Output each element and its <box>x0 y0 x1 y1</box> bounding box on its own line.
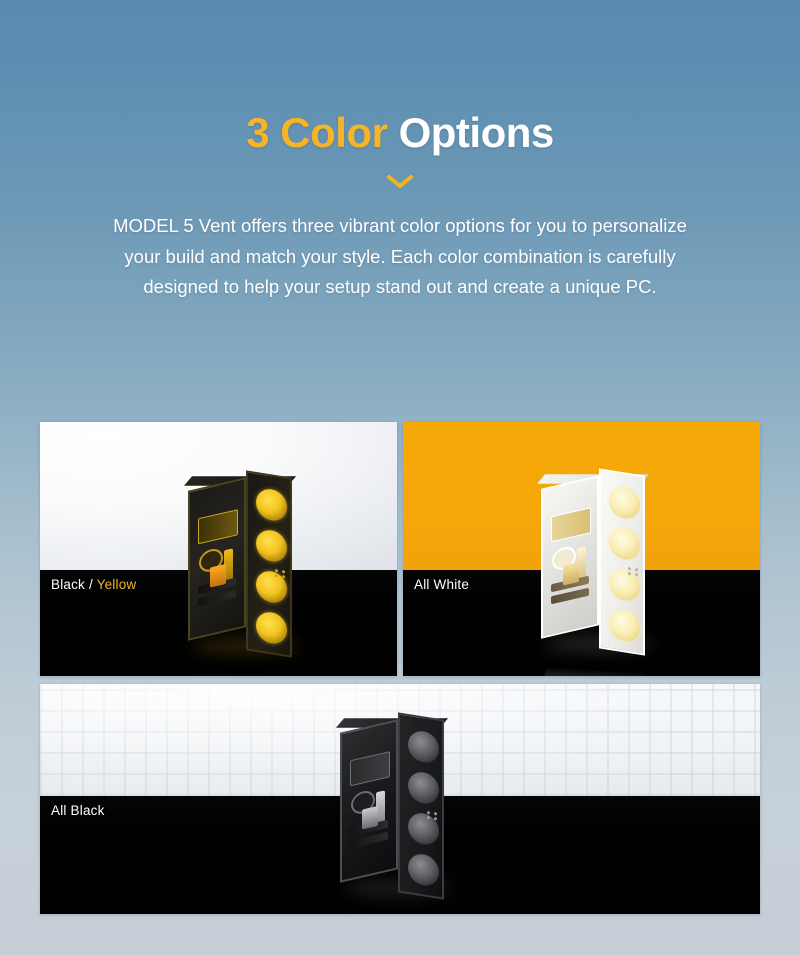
io-port-dot <box>434 812 437 815</box>
component-radiator <box>551 507 591 542</box>
fan-icon <box>408 770 439 806</box>
fan-icon <box>609 608 640 644</box>
color-card-all-white[interactable]: All White <box>403 422 760 676</box>
chevron-down-icon <box>387 175 413 188</box>
card-caption-all-white: All White <box>414 577 469 592</box>
component-psu-shroud <box>210 564 226 588</box>
fan-icon <box>408 729 439 765</box>
page-title: 3 Color Options <box>0 112 800 154</box>
page-header: 3 Color Options MODEL 5 Vent offers thre… <box>0 0 800 303</box>
component-psu-shroud <box>362 806 378 830</box>
case-io-ports <box>275 563 287 585</box>
io-port-dot <box>275 569 278 572</box>
case-glass-side-panel <box>340 719 398 882</box>
gallery-row-bottom: All Black <box>40 684 760 914</box>
io-port-dot <box>635 573 638 576</box>
intro-paragraph: MODEL 5 Vent offers three vibrant color … <box>0 211 800 303</box>
case-front-vent-panel <box>599 468 645 655</box>
caption-plain-text: All White <box>414 577 469 592</box>
component-radiator <box>198 509 238 544</box>
case-front-vent-panel <box>398 712 444 899</box>
case-internal-components <box>549 500 595 635</box>
fan-icon <box>609 485 640 521</box>
color-card-black-yellow[interactable]: Black / Yellow <box>40 422 397 676</box>
case-io-ports <box>427 805 439 827</box>
product-image-black-yellow-case <box>188 474 292 656</box>
page-title-accent: 3 Color <box>246 109 398 156</box>
case-glass-side-panel <box>188 477 246 640</box>
io-port-dot <box>628 567 631 570</box>
io-port-dot <box>427 816 430 819</box>
color-options-gallery: Black / Yellow <box>40 422 760 914</box>
case-io-ports <box>628 561 640 583</box>
fan-icon <box>408 852 439 888</box>
io-port-dot <box>434 817 437 820</box>
io-port-dot <box>427 811 430 814</box>
io-port-dot <box>282 575 285 578</box>
case-front-vent-panel <box>246 470 292 657</box>
fan-icon <box>256 610 287 646</box>
caption-plain-text: All Black <box>51 803 105 818</box>
fan-icon <box>256 487 287 523</box>
color-card-all-black[interactable]: All Black <box>40 684 760 914</box>
product-image-all-white-case <box>541 472 645 654</box>
component-radiator <box>350 751 390 786</box>
card-caption-black-yellow: Black / Yellow <box>51 577 136 592</box>
io-port-dot <box>628 572 631 575</box>
caption-plain-text: Black / <box>51 577 97 592</box>
io-port-dot <box>282 570 285 573</box>
gallery-row-top: Black / Yellow <box>40 422 760 676</box>
io-port-dot <box>275 574 278 577</box>
fan-icon <box>256 528 287 564</box>
case-glass-side-panel <box>541 475 599 638</box>
page-title-plain: Options <box>399 109 554 156</box>
product-image-all-black-case <box>340 716 444 898</box>
fan-icon <box>609 526 640 562</box>
intro-text: MODEL 5 Vent offers three vibrant color … <box>96 211 704 303</box>
io-port-dot <box>635 568 638 571</box>
caption-highlight-text: Yellow <box>97 577 137 592</box>
chevron-down-container <box>0 173 800 189</box>
case-internal-components <box>348 744 394 879</box>
card-caption-all-black: All Black <box>51 803 105 818</box>
component-psu-shroud <box>563 562 579 586</box>
case-internal-components <box>196 502 242 637</box>
